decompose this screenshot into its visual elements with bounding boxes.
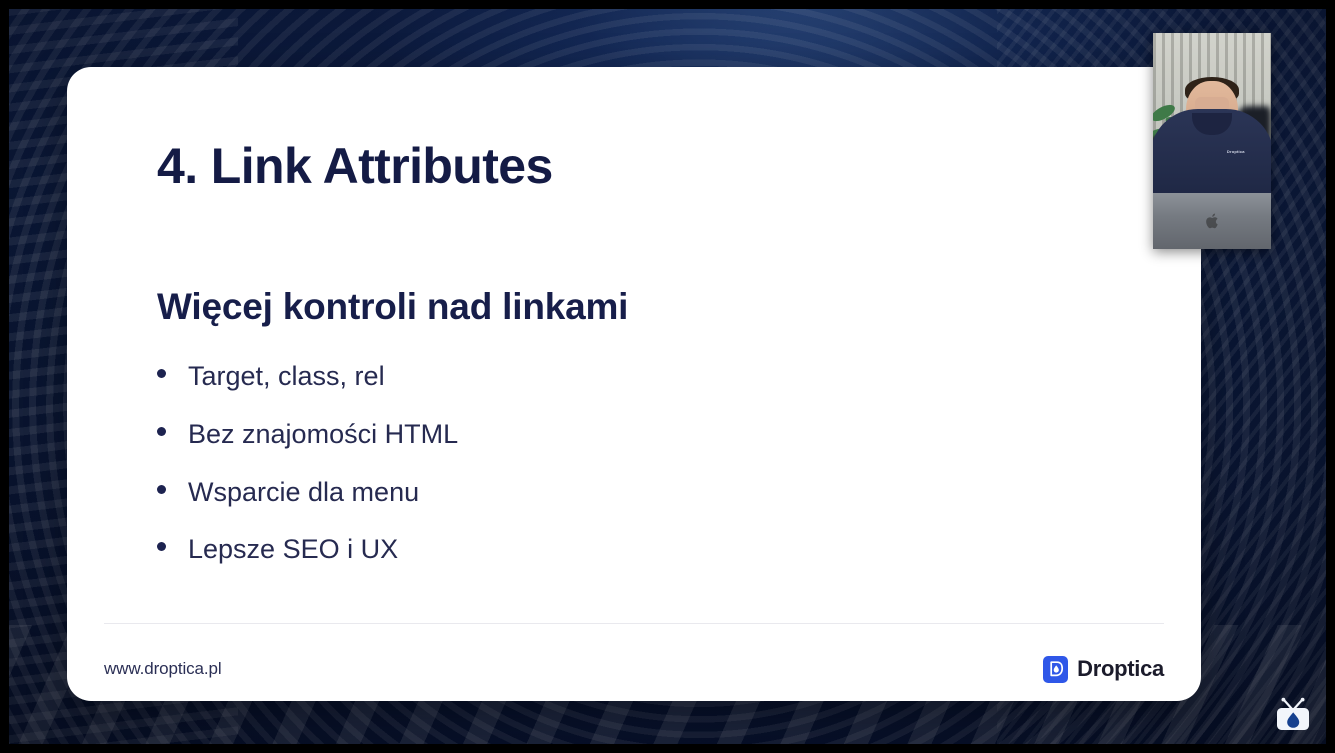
list-item: Bez znajomości HTML [157,418,1143,452]
presentation-slide: 4. Link Attributes Więcej kontroli nad l… [67,67,1201,701]
list-item: Wsparcie dla menu [157,476,1143,510]
list-item-label: Wsparcie dla menu [188,476,419,510]
presenter-collar [1192,113,1232,135]
letterbox-top [0,0,1335,9]
slide-subtitle: Więcej kontroli nad linkami [157,286,1143,328]
bullet-dot-icon [157,427,166,436]
slide-content: 4. Link Attributes Więcej kontroli nad l… [67,67,1201,701]
list-item-label: Bez znajomości HTML [188,418,458,452]
bullet-dot-icon [157,369,166,378]
list-item-label: Lepsze SEO i UX [188,533,398,567]
footer-divider [104,623,1164,624]
bullet-dot-icon [157,542,166,551]
bullet-dot-icon [157,485,166,494]
slide-footer: www.droptica.pl Droptica [104,647,1164,691]
polo-droptica-logo: Droptica [1227,149,1245,154]
footer-website-url: www.droptica.pl [104,659,222,679]
letterbox-left [0,0,9,753]
presenter-webcam[interactable]: Droptica [1153,33,1271,249]
bullet-list: Target, class, rel Bez znajomości HTML W… [157,360,1143,567]
letterbox-bottom [0,744,1335,753]
droptica-brand-logo: Droptica [1043,656,1164,683]
letterbox-right [1326,0,1335,753]
list-item: Lepsze SEO i UX [157,533,1143,567]
droptica-brand-name: Droptica [1077,656,1164,682]
list-item: Target, class, rel [157,360,1143,394]
apple-logo-icon [1205,212,1220,230]
slide-title: 4. Link Attributes [157,139,1143,194]
list-item-label: Target, class, rel [188,360,385,394]
video-frame: 4. Link Attributes Więcej kontroli nad l… [0,0,1335,753]
droptica-droplet-icon [1043,656,1068,683]
macbook-laptop [1153,193,1271,249]
droptica-tv-droplet-icon [1273,697,1313,735]
